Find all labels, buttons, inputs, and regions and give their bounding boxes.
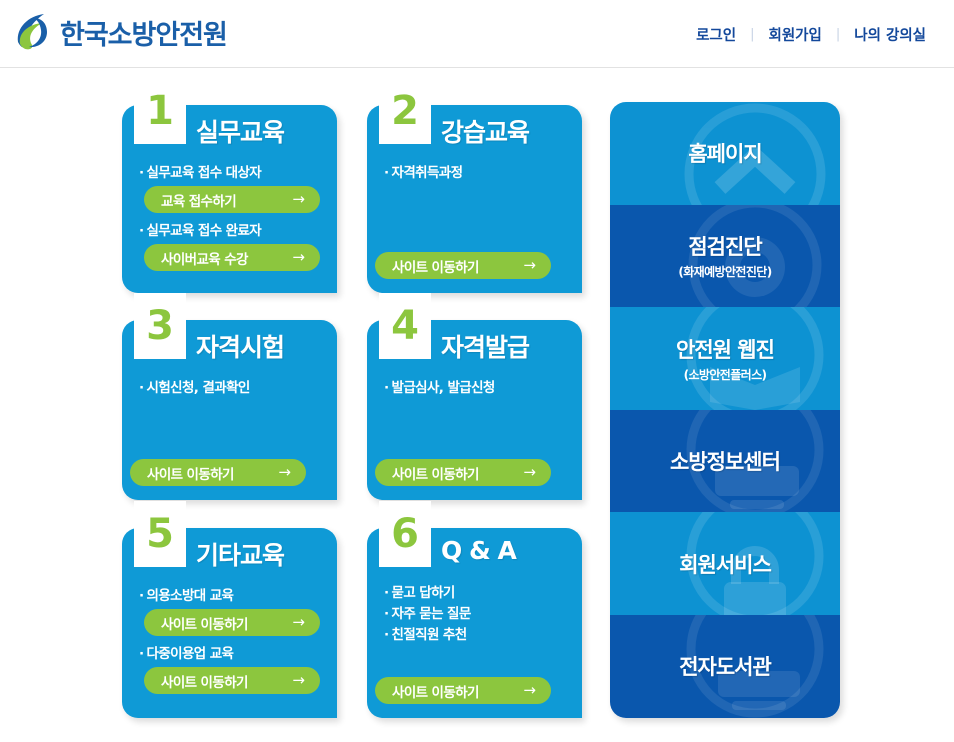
- card-qualification-exam[interactable]: 3 자격시험 ·시험신청, 결과확인 사이트 이동하기 →: [122, 320, 337, 500]
- swoosh-logo-icon: [14, 12, 52, 52]
- sidebar-item-label: 전자도서관: [679, 651, 771, 681]
- bullet-dot-icon: ·: [384, 606, 389, 622]
- list-item: ·자격취득과정: [384, 161, 568, 181]
- sidebar-item-info-center[interactable]: 소방정보센터: [610, 410, 840, 513]
- bullet-dot-icon: ·: [139, 223, 144, 239]
- arrow-right-icon: →: [523, 465, 536, 480]
- list-item-label: 자격취득과정: [392, 165, 463, 181]
- logo-text: 한국소방안전원: [60, 13, 227, 52]
- main-content: 1 실무교육 ·실무교육 접수 대상자 교육 접수하기 → ·실무교육 접수 완…: [0, 68, 954, 742]
- button-label: 사이트 이동하기: [392, 681, 479, 701]
- go-to-site-button[interactable]: 사이트 이동하기 →: [375, 459, 551, 486]
- bullet-dot-icon: ·: [139, 165, 144, 181]
- list-item-label: 실무교육 접수 완료자: [147, 223, 262, 239]
- list-item: ·자주 묻는 질문: [384, 602, 568, 622]
- bullet-dot-icon: ·: [384, 627, 389, 643]
- card-body: ·발급심사, 발급신청: [367, 372, 582, 401]
- button-label: 사이트 이동하기: [392, 256, 479, 276]
- card-title: 강습교육: [441, 113, 529, 149]
- button-label: 사이트 이동하기: [161, 671, 248, 691]
- login-link[interactable]: 로그인: [682, 24, 750, 45]
- my-classroom-link[interactable]: 나의 강의실: [840, 24, 940, 45]
- card-number-badge: 3: [134, 293, 186, 359]
- go-to-site-button[interactable]: 사이트 이동하기 →: [130, 459, 306, 486]
- card-title: 자격시험: [196, 328, 284, 364]
- list-item: ·다중이용업 교육: [139, 642, 323, 662]
- button-label: 사이트 이동하기: [161, 613, 248, 633]
- card-title: 실무교육: [196, 113, 284, 149]
- list-item-label: 친절직원 추천: [392, 627, 467, 643]
- list-item: ·묻고 답하기: [384, 581, 568, 601]
- card-number-badge: 6: [379, 501, 431, 567]
- site-logo[interactable]: 한국소방안전원: [14, 12, 227, 52]
- arrow-right-icon: →: [292, 250, 305, 265]
- list-item: ·친절직원 추천: [384, 623, 568, 643]
- bullet-dot-icon: ·: [139, 646, 144, 662]
- apply-training-button[interactable]: 교육 접수하기 →: [144, 186, 320, 213]
- sidebar-item-label: 점검진단: [688, 231, 761, 261]
- card-body: ·시험신청, 결과확인: [122, 372, 337, 401]
- sidebar-item-homepage[interactable]: 홈페이지: [610, 102, 840, 205]
- list-item-label: 자주 묻는 질문: [392, 606, 471, 622]
- card-body: ·의용소방대 교육 사이트 이동하기 → ·다중이용업 교육 사이트 이동하기 …: [122, 580, 337, 700]
- card-other-training[interactable]: 5 기타교육 ·의용소방대 교육 사이트 이동하기 → ·다중이용업 교육 사이…: [122, 528, 337, 718]
- card-number-badge: 2: [379, 78, 431, 144]
- arrow-right-icon: →: [278, 465, 291, 480]
- list-item-label: 다중이용업 교육: [147, 646, 234, 662]
- site-header: 한국소방안전원 로그인 | 회원가입 | 나의 강의실: [0, 0, 954, 68]
- button-label: 사이트 이동하기: [147, 463, 234, 483]
- list-item: ·의용소방대 교육: [139, 584, 323, 604]
- sidebar-item-member-service[interactable]: 회원서비스: [610, 512, 840, 615]
- card-course-training[interactable]: 2 강습교육 ·자격취득과정 사이트 이동하기 →: [367, 105, 582, 293]
- sidebar-item-label: 홈페이지: [688, 138, 761, 168]
- card-title: 자격발급: [441, 328, 529, 364]
- quick-links-sidebar: 홈페이지 점검진단 (화재예방안전진단) 안전원 웹진 (소방안전플러스): [610, 102, 840, 718]
- card-number-badge: 5: [134, 501, 186, 567]
- card-number-badge: 1: [134, 78, 186, 144]
- bullet-dot-icon: ·: [384, 165, 389, 181]
- sidebar-item-inspection[interactable]: 점검진단 (화재예방안전진단): [610, 205, 840, 308]
- button-label: 사이트 이동하기: [392, 463, 479, 483]
- card-body: ·묻고 답하기 ·자주 묻는 질문 ·친절직원 추천: [367, 580, 582, 644]
- button-label: 사이버교육 수강: [161, 248, 248, 268]
- sidebar-item-label: 소방정보센터: [670, 446, 780, 476]
- list-item-label: 시험신청, 결과확인: [147, 380, 250, 396]
- card-title: 기타교육: [196, 536, 284, 572]
- card-body: ·자격취득과정: [367, 157, 582, 186]
- list-item-label: 묻고 답하기: [392, 585, 455, 601]
- list-item-label: 실무교육 접수 대상자: [147, 165, 262, 181]
- sidebar-item-label: 회원서비스: [679, 549, 771, 579]
- sidebar-item-sublabel: (화재예방안전진단): [678, 263, 771, 280]
- go-to-site-button[interactable]: 사이트 이동하기 →: [375, 252, 551, 279]
- sidebar-item-webzine[interactable]: 안전원 웹진 (소방안전플러스): [610, 307, 840, 410]
- signup-link[interactable]: 회원가입: [754, 24, 835, 45]
- cyber-training-button[interactable]: 사이버교육 수강 →: [144, 244, 320, 271]
- card-practical-training[interactable]: 1 실무교육 ·실무교육 접수 대상자 교육 접수하기 → ·실무교육 접수 완…: [122, 105, 337, 293]
- card-number-badge: 4: [379, 293, 431, 359]
- arrow-right-icon: →: [292, 615, 305, 630]
- list-item: ·시험신청, 결과확인: [139, 376, 323, 396]
- bullet-dot-icon: ·: [139, 588, 144, 604]
- list-item: ·실무교육 접수 대상자: [139, 161, 323, 181]
- card-title: Q & A: [441, 536, 516, 565]
- bullet-dot-icon: ·: [384, 380, 389, 396]
- list-item-label: 발급심사, 발급신청: [392, 380, 495, 396]
- header-nav: 로그인 | 회원가입 | 나의 강의실: [682, 0, 940, 68]
- go-to-site-button[interactable]: 사이트 이동하기 →: [375, 677, 551, 704]
- list-item: ·발급심사, 발급신청: [384, 376, 568, 396]
- button-label: 교육 접수하기: [161, 190, 236, 210]
- list-item-label: 의용소방대 교육: [147, 588, 234, 604]
- bullet-dot-icon: ·: [139, 380, 144, 396]
- go-to-site-button-multiuse[interactable]: 사이트 이동하기 →: [144, 667, 320, 694]
- arrow-right-icon: →: [523, 258, 536, 273]
- list-item: ·실무교육 접수 완료자: [139, 219, 323, 239]
- bullet-dot-icon: ·: [384, 585, 389, 601]
- sidebar-item-label: 안전원 웹진: [676, 334, 774, 364]
- sidebar-item-elibrary[interactable]: 전자도서관: [610, 615, 840, 718]
- arrow-right-icon: →: [523, 683, 536, 698]
- card-body: ·실무교육 접수 대상자 교육 접수하기 → ·실무교육 접수 완료자 사이버교…: [122, 157, 337, 277]
- card-qualification-issue[interactable]: 4 자격발급 ·발급심사, 발급신청 사이트 이동하기 →: [367, 320, 582, 500]
- go-to-site-button-volunteer[interactable]: 사이트 이동하기 →: [144, 609, 320, 636]
- sidebar-item-sublabel: (소방안전플러스): [684, 366, 767, 383]
- arrow-right-icon: →: [292, 192, 305, 207]
- card-qna[interactable]: 6 Q & A ·묻고 답하기 ·자주 묻는 질문 ·친절직원 추천 사이트 이…: [367, 528, 582, 718]
- arrow-right-icon: →: [292, 673, 305, 688]
